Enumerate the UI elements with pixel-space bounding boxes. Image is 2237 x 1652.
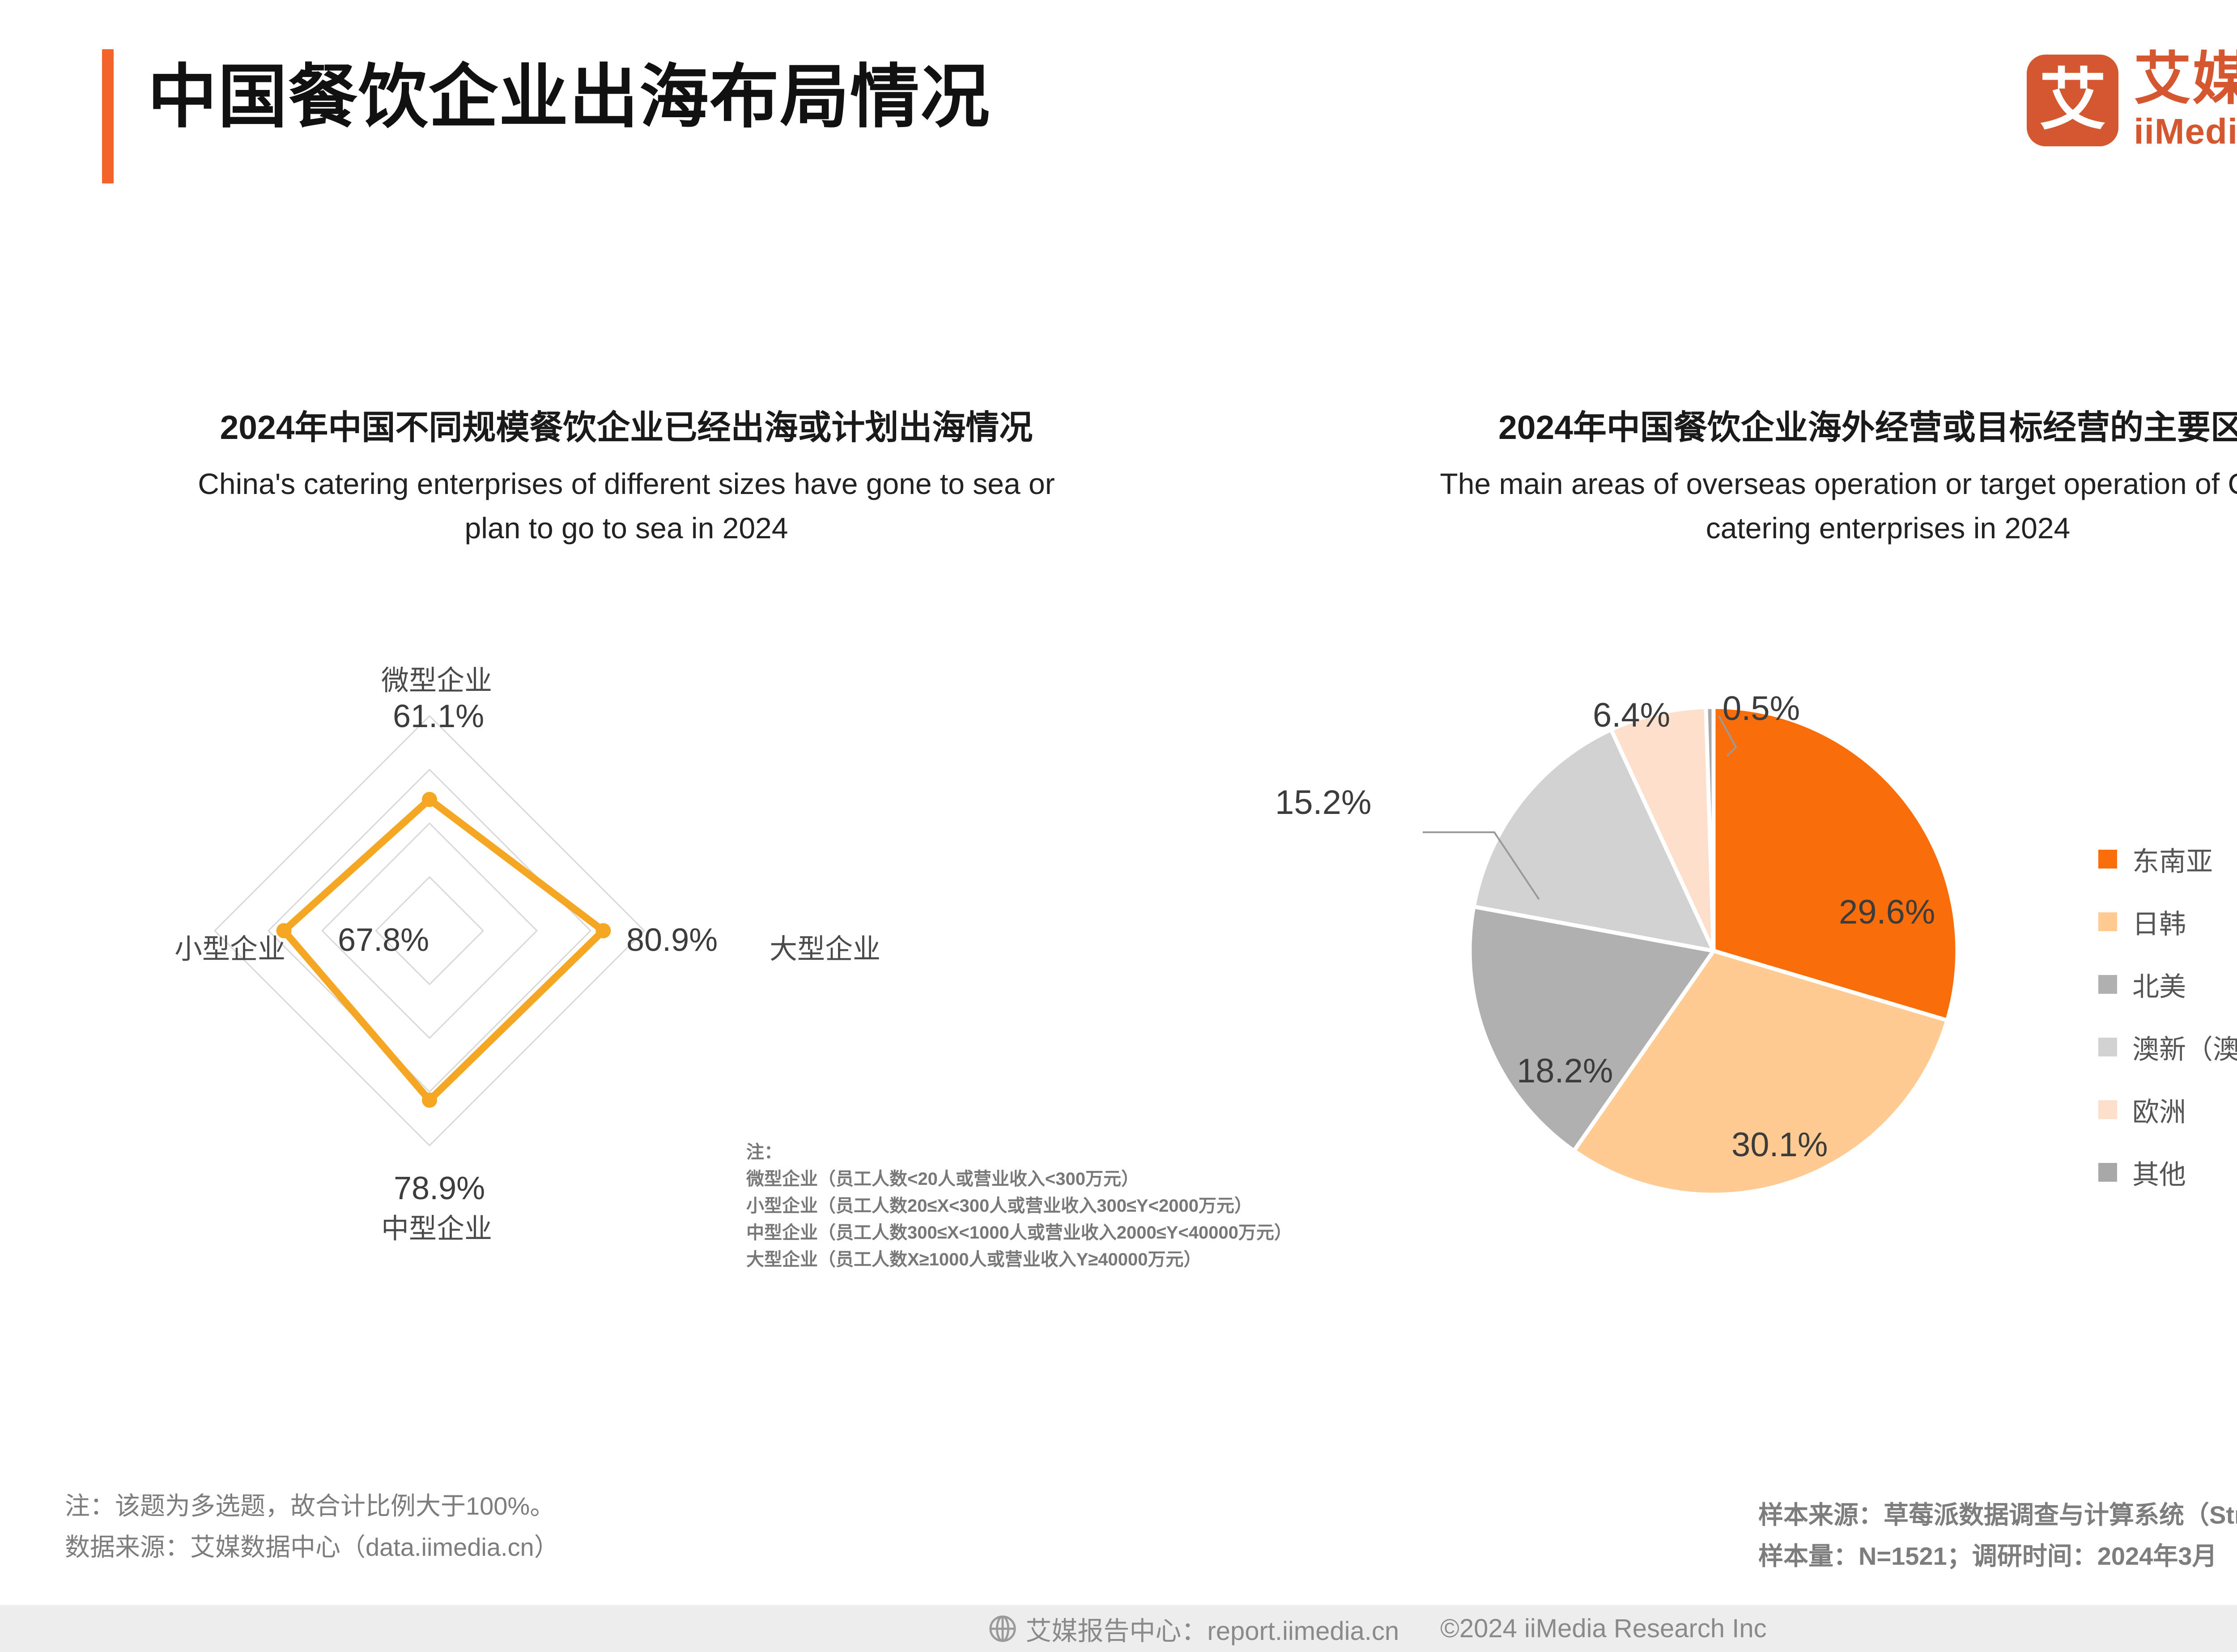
footer-bar: 艾媒报告中心：report.iimedia.cn ©2024 iiMedia R… — [0, 1605, 2237, 1652]
left-panel-title-en: China's catering enterprises of differen… — [63, 462, 1190, 550]
radar-value-micro: 61.1% — [393, 698, 484, 735]
title-accent-bar — [102, 49, 114, 183]
right-panel-title-en: The main areas of overseas operation or … — [1324, 462, 2237, 550]
pie-value-label-other: 0.5% — [1722, 689, 1800, 728]
footer-bar-content: 艾媒报告中心：report.iimedia.cn ©2024 iiMedia R… — [989, 1610, 1766, 1648]
footer-copyright: ©2024 iiMedia Research Inc — [1440, 1614, 1766, 1643]
pie-value-label-europe: 6.4% — [1593, 696, 1670, 735]
right-panel-title-en-line2: catering enterprises in 2024 — [1324, 506, 2237, 550]
slide-root: 中国餐饮企业出海布局情况 艾 艾媒咨询 iiMedia Research 202… — [0, 0, 2237, 1652]
radar-axis-label-medium: 中型企业 — [381, 1206, 492, 1246]
legend-swatch-icon — [2098, 850, 2117, 869]
legend-swatch-icon — [2098, 975, 2117, 994]
pie-value-label-southeast-asia: 29.6% — [1839, 893, 1935, 932]
right-panel-heading: 2024年中国餐饮企业海外经营或目标经营的主要区域 The main areas… — [1324, 405, 2237, 550]
footer-report-center[interactable]: 艾媒报告中心：report.iimedia.cn — [1025, 1610, 1399, 1648]
left-panel-heading: 2024年中国不同规模餐饮企业已经出海或计划出海情况 China's cater… — [63, 405, 1190, 550]
legend-label: 东南亚 — [2132, 840, 2213, 879]
footer-sample-size: 样本量：N=1521；调研时间：2024年3月 — [1758, 1536, 2237, 1577]
radar-value-small: 67.8% — [338, 922, 429, 958]
pie-legend: 东南亚 日韩 北美 澳新（澳大利亚和新西兰） 欧洲 其他 — [2098, 828, 2237, 1204]
legend-swatch-icon — [2098, 912, 2117, 931]
legend-swatch-icon — [2098, 1100, 2117, 1119]
legend-item-north-america[interactable]: 北美 — [2098, 953, 2237, 1016]
legend-label: 日韩 — [2132, 903, 2186, 941]
radar-axis-label-small: 小型企业 — [174, 926, 285, 967]
footer-left: 注：该题为多选题，故合计比例大于100%。 数据来源：艾媒数据中心（data.i… — [65, 1486, 559, 1568]
legend-label: 欧洲 — [2132, 1090, 2186, 1129]
pie-value-label-japan-korea: 30.1% — [1731, 1125, 1828, 1164]
left-panel-title-en-line1: China's catering enterprises of differen… — [63, 462, 1190, 506]
legend-item-europe[interactable]: 欧洲 — [2098, 1078, 2237, 1141]
radar-note-line-2: 小型企业（员工人数20≤X<300人或营业收入300≤Y<2000万元） — [746, 1192, 1395, 1219]
right-panel-title-cn: 2024年中国餐饮企业海外经营或目标经营的主要区域 — [1324, 405, 2237, 450]
radar-axis-label-large: 大型企业 — [770, 926, 880, 967]
globe-icon — [989, 1615, 1016, 1643]
pie-chart: 29.6% 30.1% 18.2% 15.2% 6.4% 0.5% — [1369, 673, 1995, 1210]
radar-note-head: 注： — [746, 1139, 1395, 1166]
left-panel-title-en-line2: plan to go to sea in 2024 — [63, 506, 1190, 550]
radar-axis-label-micro: 微型企业 — [381, 658, 492, 698]
legend-item-anz[interactable]: 澳新（澳大利亚和新西兰） — [2098, 1016, 2237, 1078]
logo-name-en: iiMedia Research — [2134, 112, 2237, 151]
left-panel-title-cn: 2024年中国不同规模餐饮企业已经出海或计划出海情况 — [63, 405, 1190, 450]
legend-label: 北美 — [2132, 965, 2186, 1004]
radar-note-line-1: 微型企业（员工人数<20人或营业收入<300万元） — [746, 1166, 1395, 1192]
radar-note-line-3: 中型企业（员工人数300≤X<1000人或营业收入2000≤Y<40000万元） — [746, 1219, 1395, 1246]
logo-text: 艾媒咨询 iiMedia Research — [2134, 49, 2237, 151]
radar-note: 注： 微型企业（员工人数<20人或营业收入<300万元） 小型企业（员工人数20… — [746, 1139, 1395, 1273]
pie-value-label-north-america: 18.2% — [1517, 1052, 1613, 1090]
brand-logo: 艾 艾媒咨询 iiMedia Research — [2027, 49, 2237, 151]
page-title: 中国餐饮企业出海布局情况 — [148, 57, 991, 137]
footer-sample-source: 样本来源：草莓派数据调查与计算系统（Strawberry Pie） — [1758, 1494, 2237, 1536]
radar-value-medium: 78.9% — [394, 1170, 485, 1207]
legend-label: 其他 — [2132, 1153, 2186, 1192]
legend-label: 澳新（澳大利亚和新西兰） — [2132, 1028, 2237, 1067]
footer-data-source: 数据来源：艾媒数据中心（data.iimedia.cn） — [65, 1527, 559, 1568]
legend-item-other[interactable]: 其他 — [2098, 1141, 2237, 1204]
legend-swatch-icon — [2098, 1038, 2117, 1056]
footer-right: 样本来源：草莓派数据调查与计算系统（Strawberry Pie） 样本量：N=… — [1758, 1494, 2237, 1577]
logo-mark-icon: 艾 — [2027, 55, 2118, 146]
slide-header: 中国餐饮企业出海布局情况 艾 艾媒咨询 iiMedia Research — [0, 0, 2237, 210]
radar-value-large: 80.9% — [626, 922, 718, 958]
pie-value-label-anz: 15.2% — [1275, 783, 1372, 822]
radar-note-line-4: 大型企业（员工人数X≥1000人或营业收入Y≥40000万元） — [746, 1246, 1395, 1273]
pie-chart-svg — [1369, 673, 1995, 1210]
footer-note-multiselect: 注：该题为多选题，故合计比例大于100%。 — [65, 1486, 559, 1527]
legend-item-japan-korea[interactable]: 日韩 — [2098, 890, 2237, 953]
right-panel-title-en-line1: The main areas of overseas operation or … — [1324, 462, 2237, 506]
legend-item-southeast-asia[interactable]: 东南亚 — [2098, 828, 2237, 890]
legend-swatch-icon — [2098, 1163, 2117, 1182]
logo-name-cn: 艾媒咨询 — [2134, 49, 2237, 109]
